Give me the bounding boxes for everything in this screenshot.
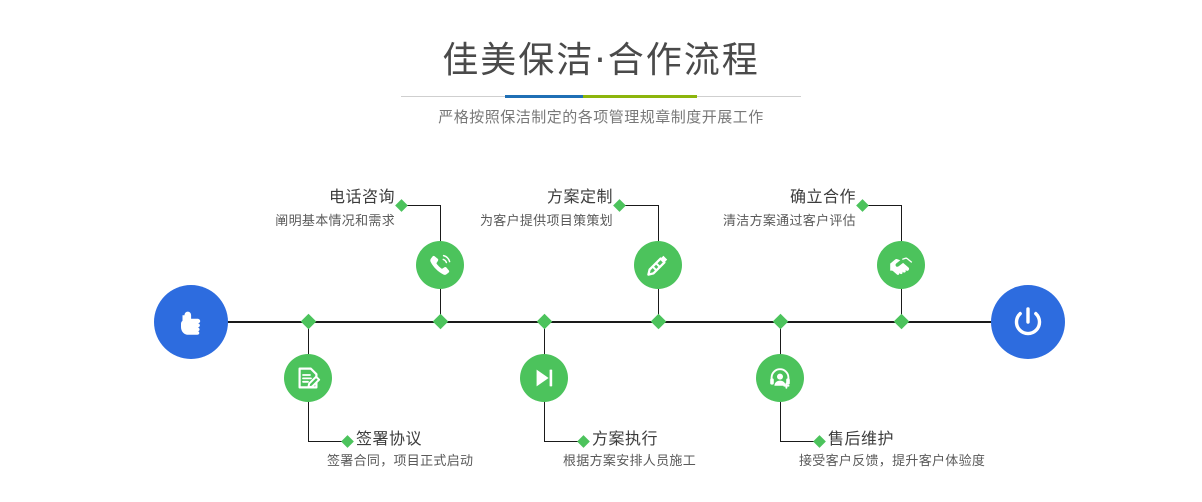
- divider-blue-segment: [505, 95, 583, 98]
- label-marker-top-3: [856, 199, 869, 212]
- step-icon-bottom-3: [756, 354, 804, 402]
- label-marker-bottom-1: [341, 435, 354, 448]
- cooperation-flow-infographic: 佳美保洁·合作流程 严格按照保洁制定的各项管理规章制度开展工作: [0, 0, 1202, 502]
- step-title-bottom-1: 签署协议: [356, 428, 616, 450]
- axis-marker-bottom-2: [537, 314, 553, 330]
- document-sign-icon: [294, 364, 322, 392]
- axis-marker-bottom-3: [773, 314, 789, 330]
- pointing-hand-icon: [171, 302, 211, 342]
- axis-marker-top-1: [433, 314, 449, 330]
- pencil-edit-icon: [644, 251, 672, 279]
- label-marker-top-2: [613, 199, 626, 212]
- step-title-top-1: 电话咨询: [205, 186, 395, 208]
- step-icon-bottom-2: [520, 354, 568, 402]
- page-title: 佳美保洁·合作流程: [0, 38, 1202, 84]
- title-divider: [401, 95, 801, 99]
- end-endpoint: [991, 285, 1065, 359]
- axis-marker-bottom-1: [301, 314, 317, 330]
- step-icon-top-2: [634, 241, 682, 289]
- step-desc-top-1: 阐明基本情况和需求: [155, 212, 395, 232]
- step-desc-bottom-3: 接受客户反馈，提升客户体验度: [799, 452, 1129, 472]
- divider-green-segment: [583, 95, 697, 98]
- axis-marker-top-2: [651, 314, 667, 330]
- page-subtitle: 严格按照保洁制定的各项管理规章制度开展工作: [0, 106, 1202, 128]
- header: 佳美保洁·合作流程 严格按照保洁制定的各项管理规章制度开展工作: [0, 0, 1202, 140]
- phone-call-icon: [426, 251, 454, 279]
- step-desc-top-2: 为客户提供项目策策划: [375, 212, 613, 232]
- step-icon-bottom-1: [284, 354, 332, 402]
- step-icon-top-3: [877, 241, 925, 289]
- step-title-top-2: 方案定制: [425, 186, 613, 208]
- step-title-bottom-2: 方案执行: [592, 428, 852, 450]
- step-title-bottom-3: 售后维护: [828, 428, 1108, 450]
- label-marker-top-1: [395, 199, 408, 212]
- step-desc-top-3: 清洁方案通过客户评估: [608, 212, 856, 232]
- axis-marker-top-3: [894, 314, 910, 330]
- start-endpoint: [154, 285, 228, 359]
- step-title-top-3: 确立合作: [668, 186, 856, 208]
- power-icon: [1007, 301, 1049, 343]
- step-icon-top-1: [416, 241, 464, 289]
- play-next-icon: [530, 364, 558, 392]
- headset-support-icon: [766, 364, 794, 392]
- handshake-icon: [886, 250, 916, 280]
